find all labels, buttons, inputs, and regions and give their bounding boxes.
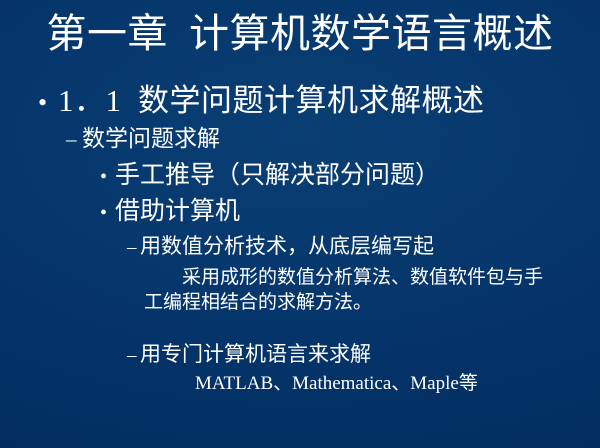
- software-list: MATLAB、Mathematica、Maple等: [195, 372, 478, 396]
- outline-item-level1: • 1．1 数学问题计算机求解概述: [38, 82, 485, 122]
- bullet-dot-icon: •: [100, 197, 115, 229]
- outline-item-level4-language: – 用专门计算机语言来求解: [127, 341, 371, 369]
- presentation-slide: 第一章 计算机数学语言概述 • 1．1 数学问题计算机求解概述 – 数学问题求解…: [0, 0, 600, 448]
- outline-level3-computer-label: 借助计算机: [115, 196, 240, 228]
- outline-level2-label: 数学问题求解: [82, 124, 220, 153]
- bullet-dash-icon: –: [127, 234, 140, 261]
- outline-level3-manual-label: 手工推导（只解决部分问题）: [115, 160, 440, 192]
- outline-item-level3-manual: • 手工推导（只解决部分问题）: [100, 160, 440, 193]
- outline-level4-language-label: 用专门计算机语言来求解: [140, 341, 371, 368]
- outline-level1-label: 1．1 数学问题计算机求解概述: [58, 82, 485, 120]
- body-paragraph: 采用成形的数值分析算法、数值软件包与手工编程相结合的求解方法。: [144, 265, 544, 315]
- bullet-dash-icon: –: [66, 125, 82, 154]
- outline-item-level4-numeric: – 用数值分析技术，从底层编写起: [127, 233, 434, 261]
- bullet-dash-icon: –: [127, 342, 140, 369]
- bullet-dot-icon: •: [100, 161, 115, 193]
- bullet-dot-icon: •: [38, 84, 58, 122]
- outline-item-level3-computer: • 借助计算机: [100, 196, 240, 229]
- outline-item-level2: – 数学问题求解: [66, 124, 220, 154]
- slide-title: 第一章 计算机数学语言概述: [0, 10, 600, 58]
- outline-level4-numeric-label: 用数值分析技术，从底层编写起: [140, 233, 434, 260]
